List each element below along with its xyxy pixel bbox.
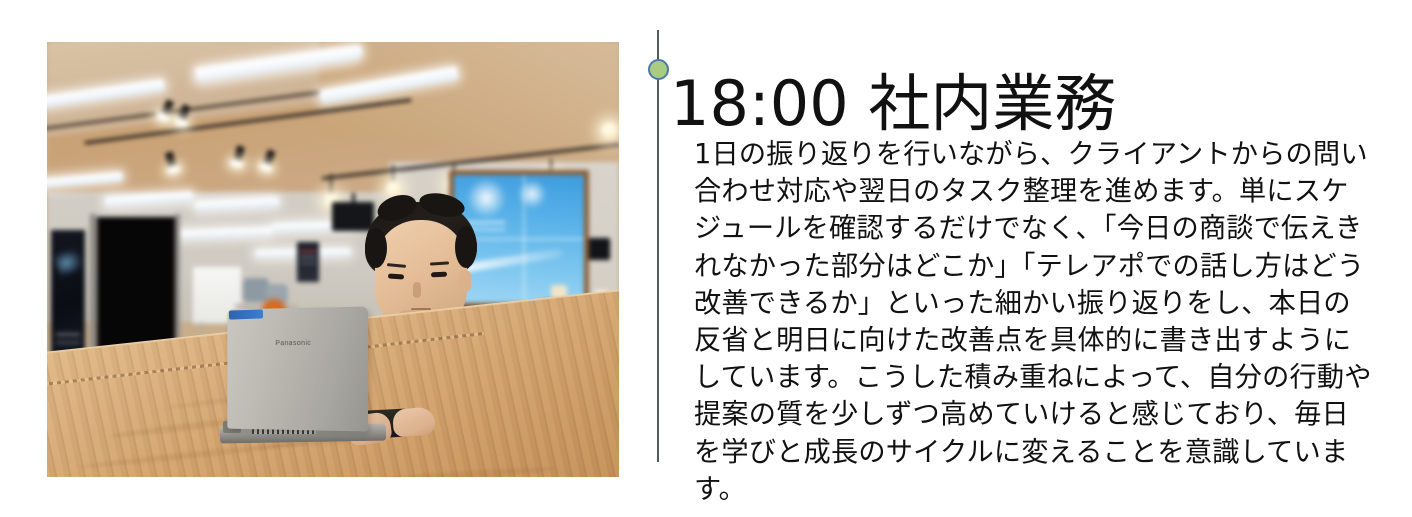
laptop-brand-label: Panasonic bbox=[275, 340, 311, 347]
wall-poster-left bbox=[51, 230, 85, 362]
office-scene-photo: Panasonic bbox=[47, 42, 619, 477]
pendant-bulb bbox=[386, 181, 401, 196]
eye bbox=[431, 272, 447, 278]
timeline-dot-icon bbox=[648, 59, 669, 80]
screen-text-block bbox=[466, 221, 505, 224]
timeline-entry-page: Panasonic 18:00 社内業務 1日の振り返りを行いながら、クライアン… bbox=[0, 0, 1412, 517]
hair bbox=[455, 226, 477, 268]
screen-highlight bbox=[462, 248, 564, 273]
nose bbox=[413, 282, 421, 298]
timeline-line bbox=[657, 30, 659, 462]
wall-monitor-small bbox=[332, 202, 374, 231]
wall-poster-right bbox=[297, 242, 319, 282]
eye bbox=[388, 273, 404, 279]
hand bbox=[392, 407, 436, 438]
ear bbox=[459, 270, 471, 292]
entry-title: 18:00 社内業務 bbox=[670, 64, 1116, 144]
pendant-bulb bbox=[601, 122, 618, 139]
entry-body-text: 1日の振り返りを行いながら、クライアントからの問い合わせ対応や翌日のタスク整理を… bbox=[694, 136, 1372, 508]
laptop-lid: Panasonic bbox=[227, 307, 368, 432]
photo-card: Panasonic bbox=[47, 42, 619, 477]
laptop-sticker bbox=[229, 309, 263, 319]
hair bbox=[365, 228, 387, 268]
pendant-stem bbox=[330, 174, 332, 194]
screen-divider bbox=[523, 175, 525, 303]
